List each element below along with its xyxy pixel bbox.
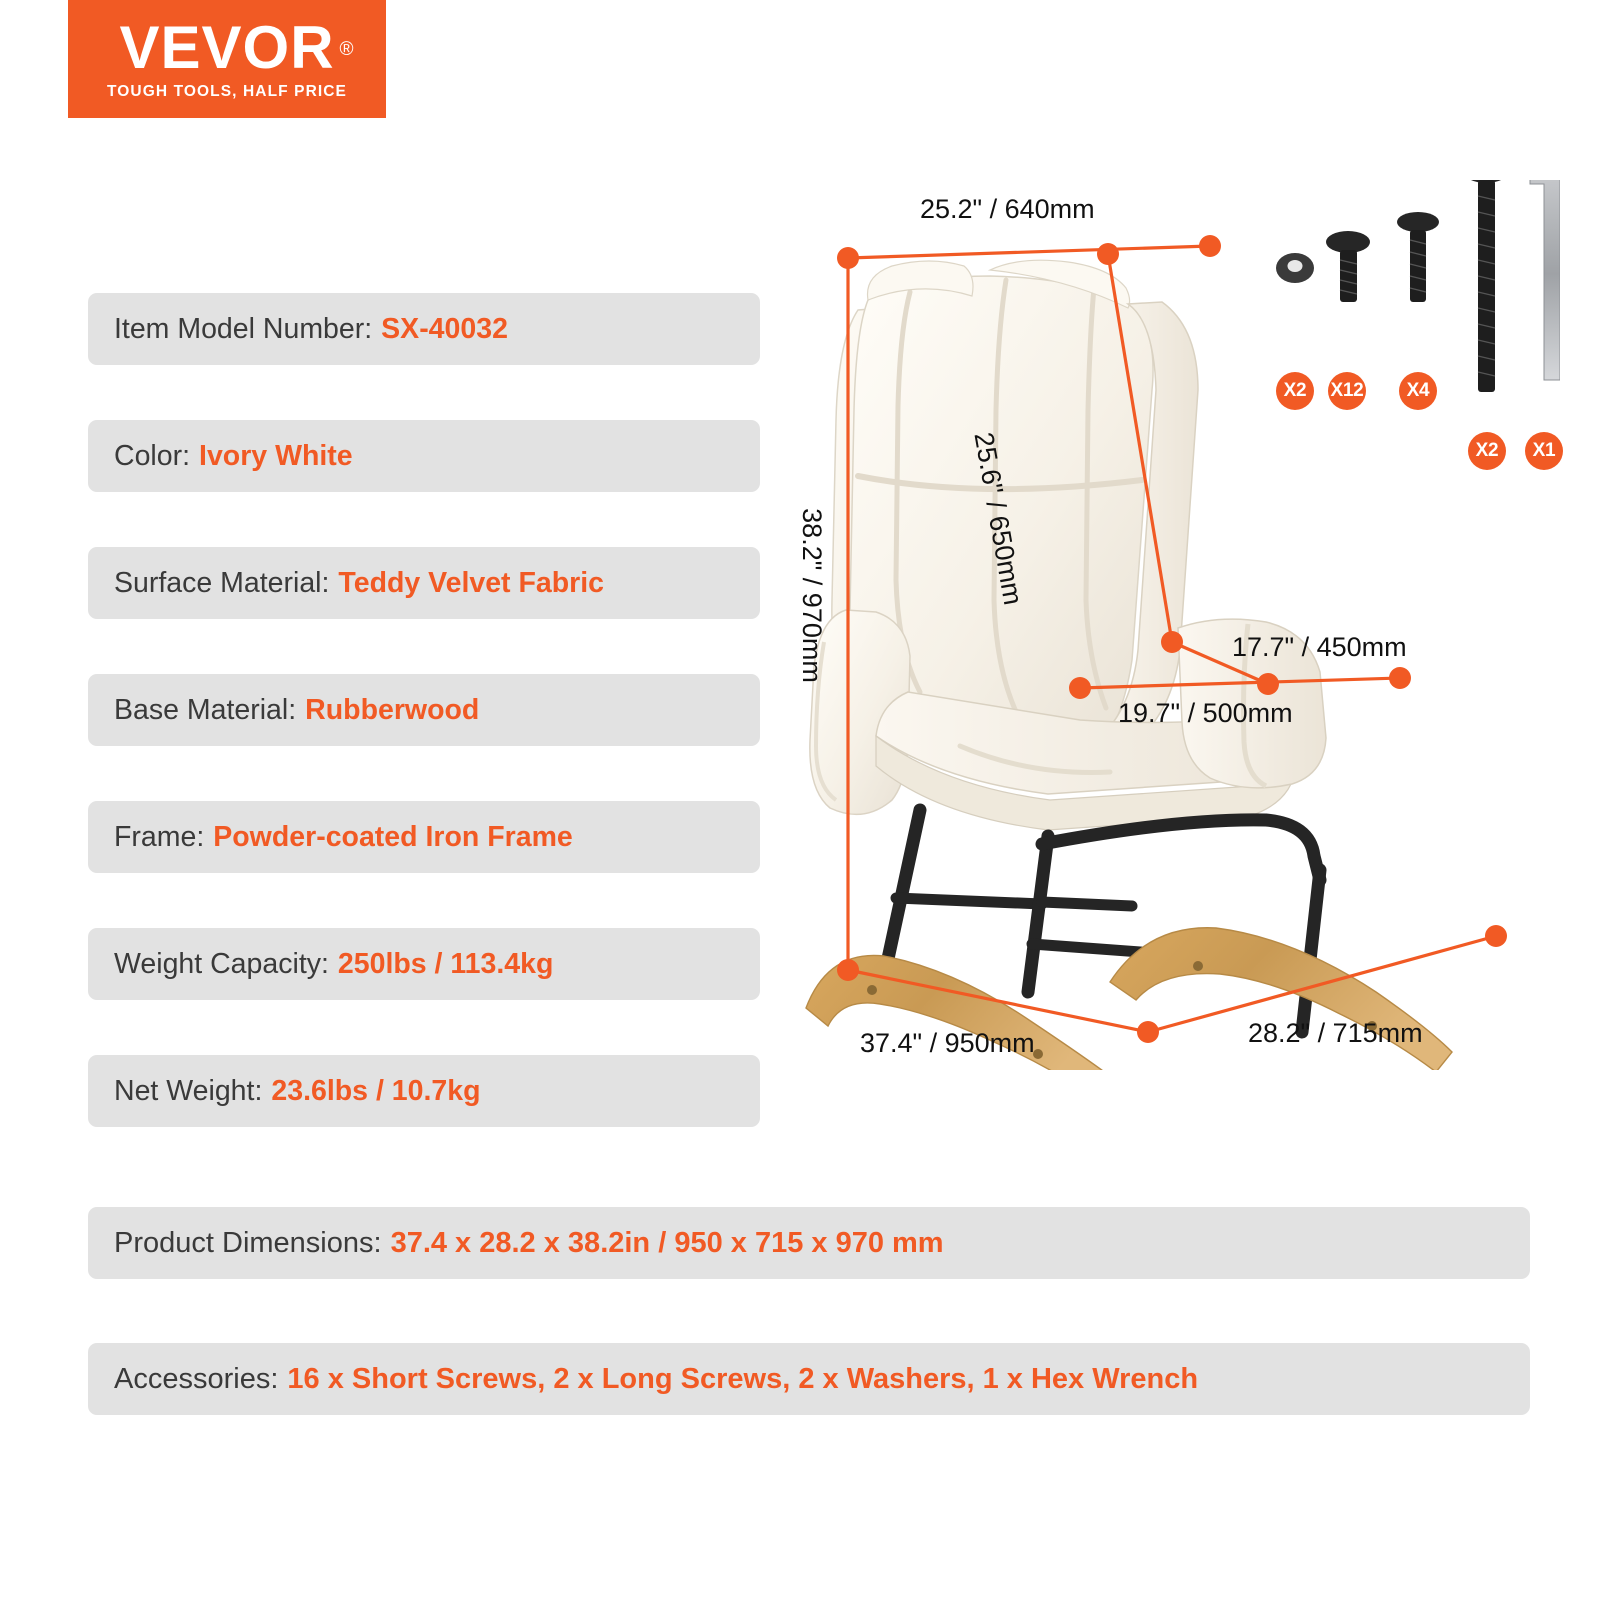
spec-label: Frame: — [114, 821, 204, 854]
spec-label: Color: — [114, 440, 190, 473]
spec-row-accessories: Accessories: 16 x Short Screws, 2 x Long… — [88, 1343, 1530, 1415]
spec-value: 250lbs / 113.4kg — [338, 948, 554, 981]
hex-wrench-icon — [1530, 180, 1560, 380]
hardware-count-screw-medium: X12 — [1328, 372, 1366, 410]
rocking-chair-illustration — [780, 180, 1560, 1070]
spec-row-net-weight: Net Weight: 23.6lbs / 10.7kg — [88, 1055, 760, 1127]
dimension-label-seat-depth: 17.7" / 450mm — [1232, 632, 1407, 663]
dimension-label-overall-depth: 28.2" / 715mm — [1248, 1018, 1423, 1049]
spec-label: Surface Material: — [114, 567, 329, 600]
dimension-label-overall-length: 37.4" / 950mm — [860, 1028, 1035, 1059]
screw-short-icon — [1397, 212, 1439, 302]
spec-label: Accessories: — [114, 1363, 278, 1396]
spec-value: 37.4 x 28.2 x 38.2in / 950 x 715 x 970 m… — [391, 1227, 944, 1260]
rocker-screw-rear-1 — [1193, 961, 1203, 971]
dimension-label-top-width: 25.2" / 640mm — [920, 194, 1095, 225]
spec-row-base-material: Base Material: Rubberwood — [88, 674, 760, 746]
spec-value: Teddy Velvet Fabric — [338, 567, 604, 600]
spec-row-surface-material: Surface Material: Teddy Velvet Fabric — [88, 547, 760, 619]
spec-row-color: Color: Ivory White — [88, 420, 760, 492]
spec-row-product-dimensions: Product Dimensions: 37.4 x 28.2 x 38.2in… — [88, 1207, 1530, 1279]
spec-row-weight-capacity: Weight Capacity: 250lbs / 113.4kg — [88, 928, 760, 1000]
spec-label: Weight Capacity: — [114, 948, 329, 981]
screw-long-icon — [1464, 180, 1508, 392]
hardware-count-washer: X2 — [1276, 372, 1314, 410]
spec-value: SX-40032 — [381, 313, 508, 346]
product-diagram: 25.2" / 640mm 38.2" / 970mm 25.6" / 650m… — [780, 180, 1560, 1070]
hardware-count-screw-long: X2 — [1468, 432, 1506, 470]
brand-tagline: TOUGH TOOLS, HALF PRICE — [107, 83, 347, 101]
hardware-count-screw-short: X4 — [1399, 372, 1437, 410]
spec-row-frame: Frame: Powder-coated Iron Frame — [88, 801, 760, 873]
dimension-label-overall-height: 38.2" / 970mm — [796, 508, 827, 683]
spec-label: Item Model Number: — [114, 313, 372, 346]
washer-icon — [1276, 253, 1314, 283]
rocker-screw-front-1 — [867, 985, 877, 995]
spec-value: Powder-coated Iron Frame — [213, 821, 573, 854]
brand-name: VEVOR® — [119, 18, 334, 78]
spec-value: 23.6lbs / 10.7kg — [271, 1075, 480, 1108]
spec-value: Ivory White — [199, 440, 353, 473]
spec-label: Net Weight: — [114, 1075, 262, 1108]
dimension-label-seat-width: 19.7" / 500mm — [1118, 698, 1293, 729]
spec-value: Rubberwood — [305, 694, 479, 727]
screw-medium-icon — [1326, 231, 1370, 302]
spec-row-model: Item Model Number: SX-40032 — [88, 293, 760, 365]
spec-value: 16 x Short Screws, 2 x Long Screws, 2 x … — [287, 1363, 1198, 1396]
brand-name-text: VEVOR — [119, 14, 334, 81]
spec-label: Product Dimensions: — [114, 1227, 382, 1260]
spec-label: Base Material: — [114, 694, 296, 727]
brand-logo: VEVOR® TOUGH TOOLS, HALF PRICE — [68, 0, 386, 118]
registered-trademark-icon: ® — [340, 20, 355, 80]
hardware-count-hex-wrench: X1 — [1525, 432, 1563, 470]
